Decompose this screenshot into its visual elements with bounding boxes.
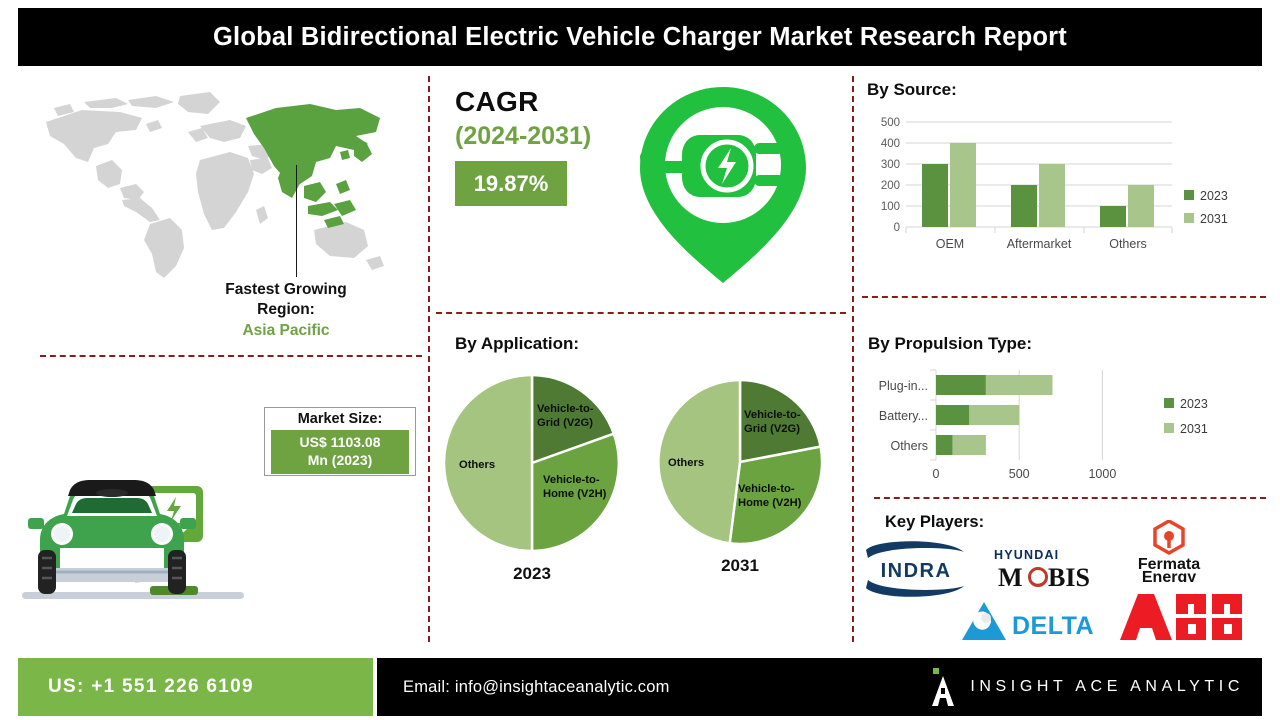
source-category-aftermarket: Aftermarket: [1007, 237, 1072, 251]
bar-oem-2031: [950, 143, 976, 227]
key-players-logos: INDRA HYUNDAI M BIS Fermata Energy: [860, 520, 1270, 648]
world-map-icon: [24, 88, 420, 284]
pie-2031-label-others: Others: [668, 457, 704, 469]
pie-2023-label-v2h-line2: Home (V2H): [543, 488, 607, 500]
propulsion-legend-swatch-2031: [1164, 423, 1174, 433]
source-category-others: Others: [1109, 237, 1147, 251]
section-title-by-source: By Source:: [867, 80, 957, 100]
propulsion-xtick-500: 500: [1009, 467, 1030, 481]
pie-2023-label-v2h-line1: Vehicle-to-: [543, 474, 600, 486]
insight-ace-a-mark-icon: [930, 668, 956, 706]
pie-chart-2023: Vehicle-to- Grid (V2G) Vehicle-to- Home …: [432, 368, 632, 584]
brand-lockup: INSIGHT ACE ANALYTIC: [930, 668, 1244, 706]
pie-chart-2031: Vehicle-to- Grid (V2G) Vehicle-to- Home …: [640, 374, 840, 576]
source-ytick-100: 100: [881, 201, 900, 213]
propulsion-legend-label-2023: 2023: [1180, 397, 1208, 411]
propulsion-category-others: Others: [890, 439, 928, 453]
divider-right-horizontal-bottom: [874, 497, 1266, 499]
pie-2023-label-v2g-line2: Grid (V2G): [537, 417, 593, 429]
by-propulsion-bar-chart: Plug-in... Battery... Others 0 500 1000 …: [864, 362, 1264, 494]
footer-email-text: Email: info@insightaceanalytic.com: [377, 678, 670, 697]
divider-right-horizontal-top: [862, 296, 1266, 298]
pie-2031-year: 2031: [640, 556, 840, 576]
bar-plugin-2023: [936, 375, 986, 395]
market-size-value: US$ 1103.08 Mn (2023): [271, 430, 409, 474]
bar-oem-2023: [922, 164, 948, 227]
footer-dark-bar: Email: info@insightaceanalytic.com INSIG…: [377, 658, 1262, 716]
svg-text:M: M: [998, 563, 1023, 592]
propulsion-legend-label-2031: 2031: [1180, 422, 1208, 436]
pie-2031-label-v2h-line2: Home (V2H): [738, 497, 802, 509]
bar-battery-2031: [969, 405, 1019, 425]
bar-propulsion-others-2023: [936, 435, 953, 455]
source-ytick-0: 0: [894, 222, 900, 234]
cagr-block: CAGR (2024-2031) 19.87%: [455, 86, 635, 206]
fermata-energy-logo: Fermata Energy: [1110, 520, 1228, 582]
pie-2023-label-v2g-line1: Vehicle-to-: [537, 403, 594, 415]
market-size-line2: Mn (2023): [271, 452, 409, 470]
region-label-line2: Region:: [150, 300, 422, 320]
bar-aftermarket-2023: [1011, 185, 1037, 227]
pie-2031-label-v2g-line1: Vehicle-to-: [744, 409, 801, 421]
cagr-value: 19.87%: [474, 171, 549, 197]
pie-2023-year: 2023: [432, 564, 632, 584]
source-legend-swatch-2023: [1184, 190, 1194, 200]
market-size-line1: US$ 1103.08: [271, 434, 409, 452]
source-legend-label-2031: 2031: [1200, 212, 1228, 226]
svg-text:INDRA: INDRA: [881, 560, 952, 582]
source-legend-swatch-2031: [1184, 213, 1194, 223]
market-size-box: Market Size: US$ 1103.08 Mn (2023): [264, 407, 416, 476]
source-legend-label-2023: 2023: [1200, 189, 1228, 203]
source-ytick-500: 500: [881, 117, 900, 129]
map-leader-line: [296, 165, 297, 277]
cagr-label: CAGR: [455, 86, 635, 118]
svg-text:BIS: BIS: [1048, 563, 1090, 592]
indra-logo: INDRA: [860, 538, 972, 600]
bar-propulsion-others-2031: [953, 435, 986, 455]
propulsion-legend-swatch-2023: [1164, 398, 1174, 408]
bar-others-2023: [1100, 206, 1126, 227]
by-source-bar-chart: 500 400 300 200 100 0 OEM Aftermarket Ot…: [862, 112, 1262, 270]
bar-others-2031: [1128, 185, 1154, 227]
divider-left-horizontal: [40, 355, 422, 357]
source-ytick-400: 400: [881, 138, 900, 150]
propulsion-category-battery: Battery...: [879, 409, 928, 423]
region-value: Asia Pacific: [150, 321, 422, 342]
brand-name: INSIGHT ACE ANALYTIC: [970, 678, 1244, 696]
section-title-by-application: By Application:: [455, 334, 579, 354]
header-banner: Global Bidirectional Electric Vehicle Ch…: [18, 8, 1262, 66]
region-label-line1: Fastest Growing: [150, 280, 422, 300]
divider-vertical-left: [428, 76, 430, 642]
svg-text:HYUNDAI: HYUNDAI: [994, 548, 1059, 562]
divider-middle-horizontal: [436, 312, 846, 314]
cagr-badge: 19.87%: [455, 161, 567, 206]
cagr-period: (2024-2031): [455, 122, 635, 151]
market-size-title: Market Size:: [298, 411, 383, 427]
footer-phone-text: US: +1 551 226 6109: [18, 676, 254, 698]
bar-plugin-2031: [986, 375, 1053, 395]
propulsion-xtick-1000: 1000: [1088, 467, 1116, 481]
application-pie-charts: Vehicle-to- Grid (V2G) Vehicle-to- Home …: [432, 368, 846, 628]
propulsion-xtick-0: 0: [933, 467, 940, 481]
propulsion-category-plugin: Plug-in...: [879, 379, 928, 393]
divider-vertical-right: [852, 76, 854, 642]
svg-text:Energy: Energy: [1142, 569, 1196, 582]
infographic-page: Global Bidirectional Electric Vehicle Ch…: [0, 0, 1280, 720]
abb-logo: [1118, 592, 1254, 642]
pie-2031-label-v2g-line2: Grid (V2G): [744, 423, 800, 435]
pie-2031-label-v2h-line1: Vehicle-to-: [738, 483, 795, 495]
delta-logo: DELTA: [958, 598, 1104, 642]
hyundai-mobis-logo: HYUNDAI M BIS: [980, 544, 1102, 592]
footer-phone-box: US: +1 551 226 6109: [18, 658, 373, 716]
source-ytick-200: 200: [881, 180, 900, 192]
page-title: Global Bidirectional Electric Vehicle Ch…: [213, 23, 1067, 52]
source-ytick-300: 300: [881, 159, 900, 171]
bar-battery-2023: [936, 405, 969, 425]
svg-text:DELTA: DELTA: [1012, 612, 1094, 640]
source-category-oem: OEM: [936, 237, 964, 251]
section-title-by-propulsion: By Propulsion Type:: [868, 334, 1032, 354]
pie-2023-label-others: Others: [459, 459, 495, 471]
fastest-growing-region: Fastest Growing Region: Asia Pacific: [150, 280, 422, 342]
charging-plug-pin-icon: [632, 85, 814, 285]
electric-car-charging-icon: [18, 480, 266, 625]
bar-aftermarket-2031: [1039, 164, 1065, 227]
